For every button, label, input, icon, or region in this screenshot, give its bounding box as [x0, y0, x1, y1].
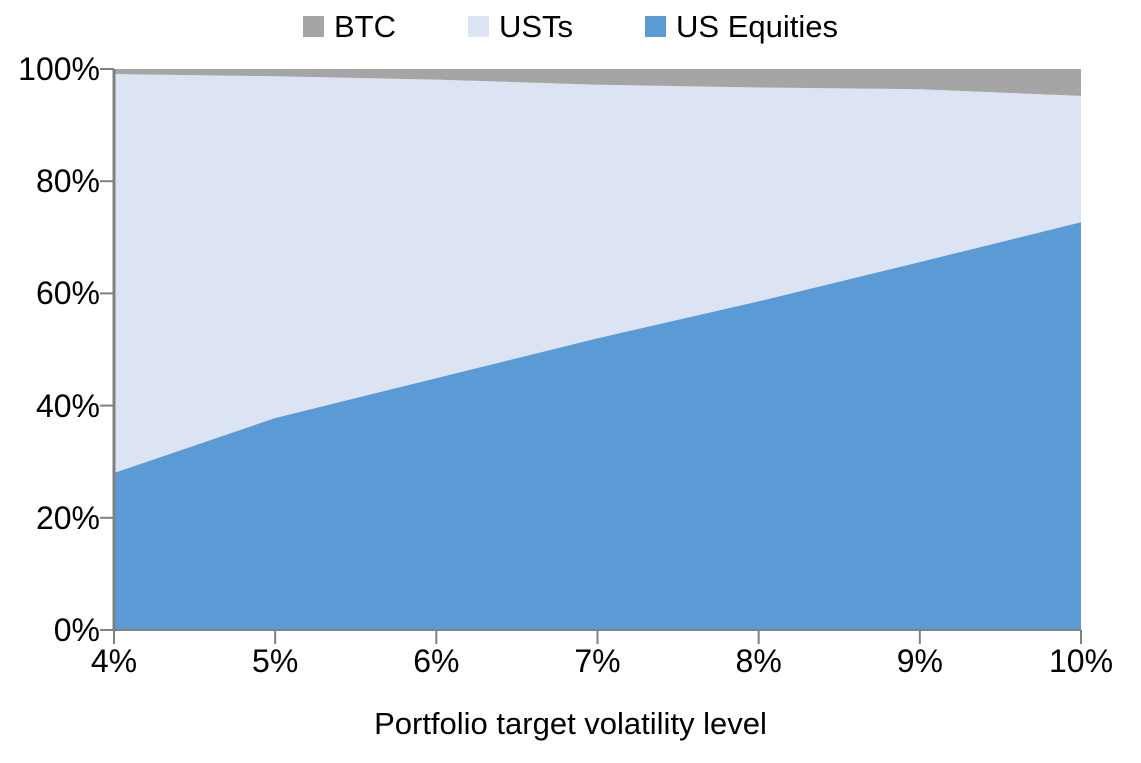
- x-axis-title: Portfolio target volatility level: [0, 706, 1141, 742]
- x-axis-tick-label: 9%: [897, 645, 943, 677]
- y-axis-tick-label: 0%: [0, 614, 100, 646]
- y-axis-tick-label: 80%: [0, 165, 100, 197]
- y-axis-tick-label: 60%: [0, 277, 100, 309]
- x-axis-tick-label: 4%: [91, 645, 137, 677]
- x-axis-tick-label: 6%: [413, 645, 459, 677]
- x-axis-tick-label: 8%: [736, 645, 782, 677]
- y-axis-tick-label: 100%: [0, 53, 100, 85]
- y-axis-tick-label: 40%: [0, 390, 100, 422]
- x-axis-tick-label: 7%: [574, 645, 620, 677]
- x-axis-tick-labels: 4%5%6%7%8%9%10%: [0, 645, 1141, 691]
- area-series-group: [114, 69, 1081, 630]
- stacked-area-chart: 0%20%40%60%80%100% 4%5%6%7%8%9%10% Portf…: [0, 0, 1141, 763]
- y-axis-tick-label: 20%: [0, 502, 100, 534]
- x-axis-tick-label: 5%: [252, 645, 298, 677]
- x-axis-tick-label: 10%: [1049, 645, 1113, 677]
